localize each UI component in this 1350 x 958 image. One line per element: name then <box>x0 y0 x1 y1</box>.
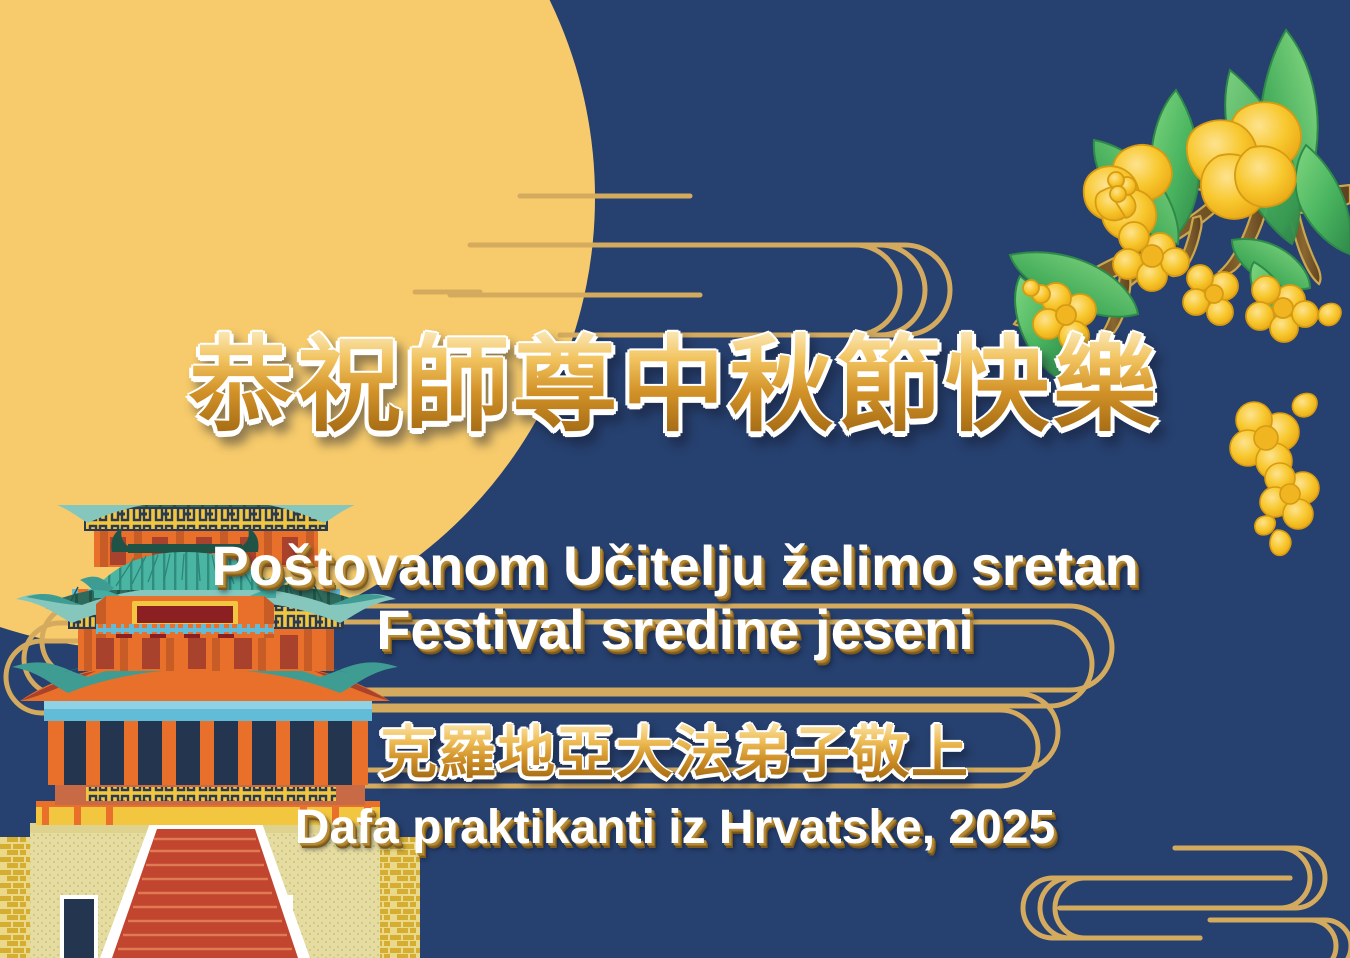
mid-autumn-greeting-card: 恭祝師尊中秋節快樂 Poštovanom Učitelju želimo sre… <box>0 0 1350 958</box>
greeting-title-chinese: 恭祝師尊中秋節快樂 <box>0 330 1350 440</box>
greeting-line-2-croatian: Festival sredine jeseni <box>0 598 1350 662</box>
greeting-line-1-croatian: Poštovanom Učitelju želimo sretan <box>0 534 1350 598</box>
signature-croatian: Dafa praktikanti iz Hrvatske, 2025 <box>0 800 1350 856</box>
signature-chinese: 克羅地亞大法弟子敬上 <box>0 722 1350 784</box>
